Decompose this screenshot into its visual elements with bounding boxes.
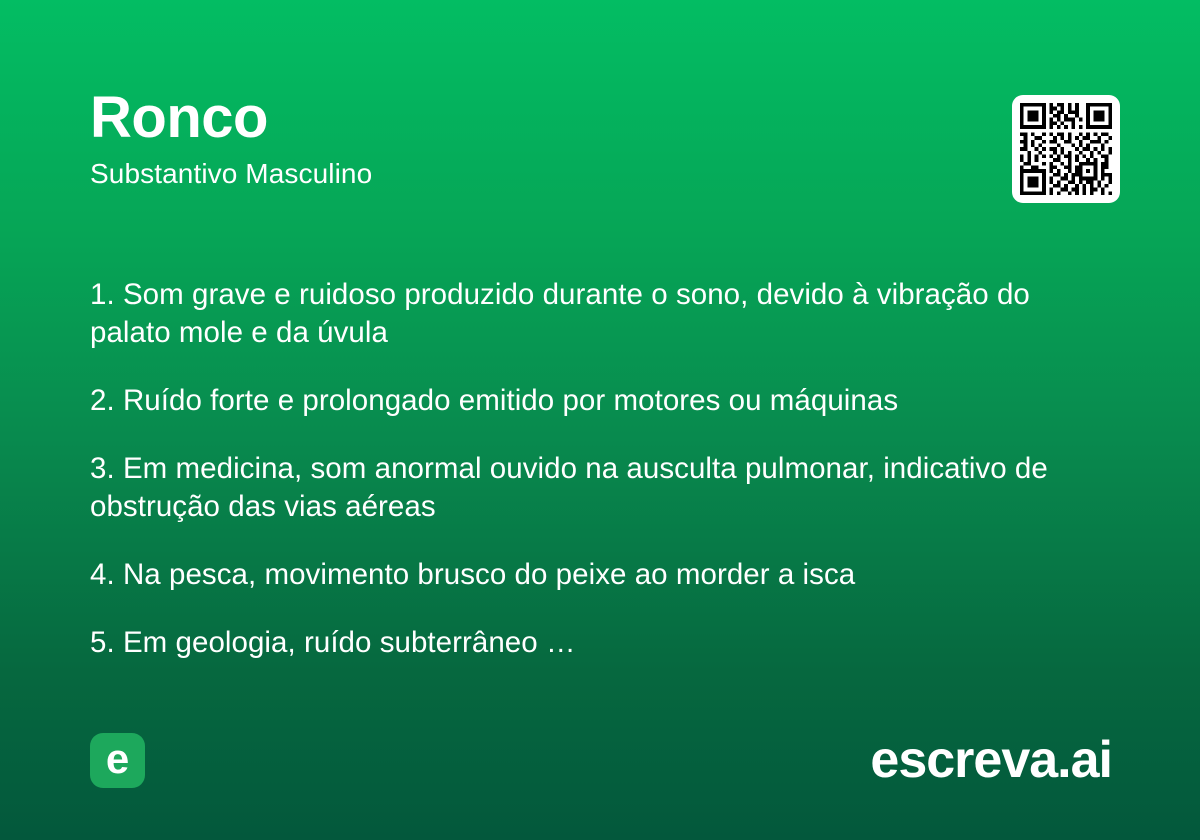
definition-item: 5. Em geologia, ruído subterrâneo … (90, 624, 1055, 662)
definition-list: 1. Som grave e ruidoso produzido durante… (90, 246, 1055, 662)
word-title: Ronco (90, 88, 1110, 149)
definition-item: 3. Em medicina, som anormal ouvido na au… (90, 450, 1055, 527)
qr-code-panel[interactable] (1012, 95, 1120, 203)
brand-wordmark: escreva.ai (870, 734, 1112, 786)
definition-item: 2. Ruído forte e prolongado emitido por … (90, 382, 1055, 420)
card-header: Ronco Substantivo Masculino (90, 88, 1110, 190)
word-class-label: Substantivo Masculino (90, 157, 1110, 191)
qr-code-icon (1020, 103, 1112, 195)
brand-logo-letter: e (106, 738, 129, 780)
dictionary-card: Ronco Substantivo Masculino (0, 0, 1200, 840)
definition-item: 1. Som grave e ruidoso produzido durante… (90, 276, 1055, 353)
brand-logo-icon: e (90, 733, 145, 788)
definition-item: 4. Na pesca, movimento brusco do peixe a… (90, 556, 1055, 594)
card-footer: e escreva.ai (90, 732, 1112, 788)
